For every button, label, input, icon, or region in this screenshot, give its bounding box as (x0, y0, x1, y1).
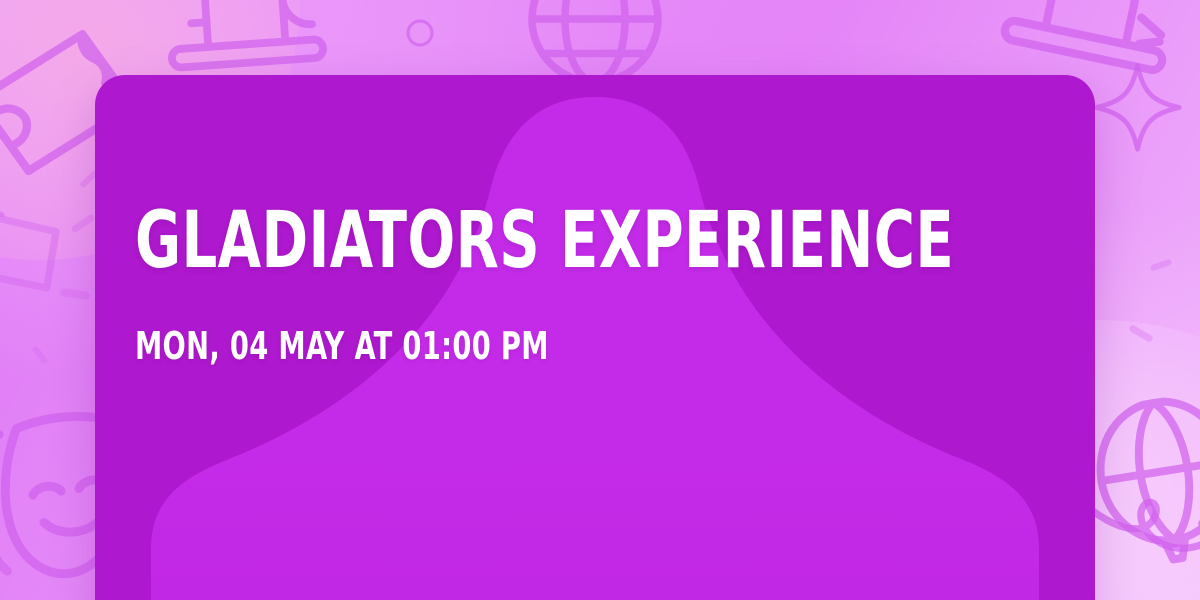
sparkle-icon (0, 160, 20, 250)
event-banner: Gladiators Experience Mon, 04 May at 01:… (0, 0, 1200, 600)
confetti-dash (70, 213, 95, 233)
sparkle-icon (1090, 60, 1185, 155)
confetti-dash (1150, 258, 1173, 271)
confetti-dash (60, 288, 91, 300)
event-card-content: Gladiators Experience Mon, 04 May at 01:… (135, 75, 1055, 600)
confetti-dash (31, 345, 48, 364)
ring-icon (405, 18, 435, 48)
event-title: Gladiators Experience (135, 203, 871, 279)
confetti-dash (1128, 324, 1154, 343)
event-datetime: Mon, 04 May at 01:00 PM (135, 327, 871, 365)
ticket-icon (0, 176, 85, 325)
event-card[interactable]: Gladiators Experience Mon, 04 May at 01:… (95, 75, 1095, 600)
ribbon-icon (1080, 480, 1200, 600)
